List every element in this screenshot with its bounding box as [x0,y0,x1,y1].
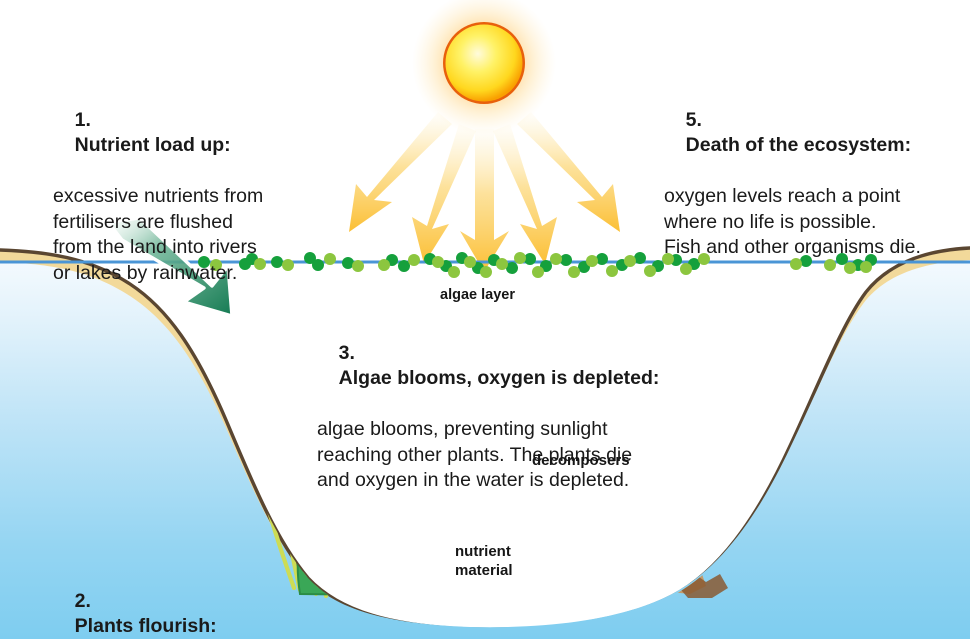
callout-step-3: 3. Algae blooms, oxygen is depleted: alg… [291,315,659,545]
callout-step-5-number: 5. [686,109,702,131]
callout-step-1-heading: Nutrient load up: [75,134,231,156]
label-decomposers: decomposers [532,451,630,470]
callout-step-5: 5. Death of the ecosystem: oxygen levels… [638,82,921,312]
callout-step-5-heading: Death of the ecosystem: [686,134,911,156]
callout-step-1: 1. Nutrient load up: excessive nutrients… [27,82,263,337]
eutrophication-diagram: 1. Nutrient load up: excessive nutrients… [0,0,970,639]
label-algae-layer: algae layer [440,286,515,305]
callout-step-3-number: 3. [339,342,355,364]
callout-step-1-number: 1. [75,109,91,131]
callout-step-3-heading: Algae blooms, oxygen is depleted: [339,367,660,389]
sun-icon [412,0,556,135]
sun-ray-arrow-icon [349,112,620,272]
callout-step-1-body: excessive nutrients from fertilisers are… [53,184,263,286]
callout-step-5-body: oxygen levels reach a point where no lif… [664,184,921,261]
label-nutrient-material: nutrient material [455,542,513,580]
right-grass-icon [692,412,738,500]
callout-step-2-number: 2. [75,590,91,612]
callout-step-2-heading: Plants flourish: [75,615,217,637]
callout-step-2: 2. Plants flourish: these pollutants cau… [27,563,249,639]
